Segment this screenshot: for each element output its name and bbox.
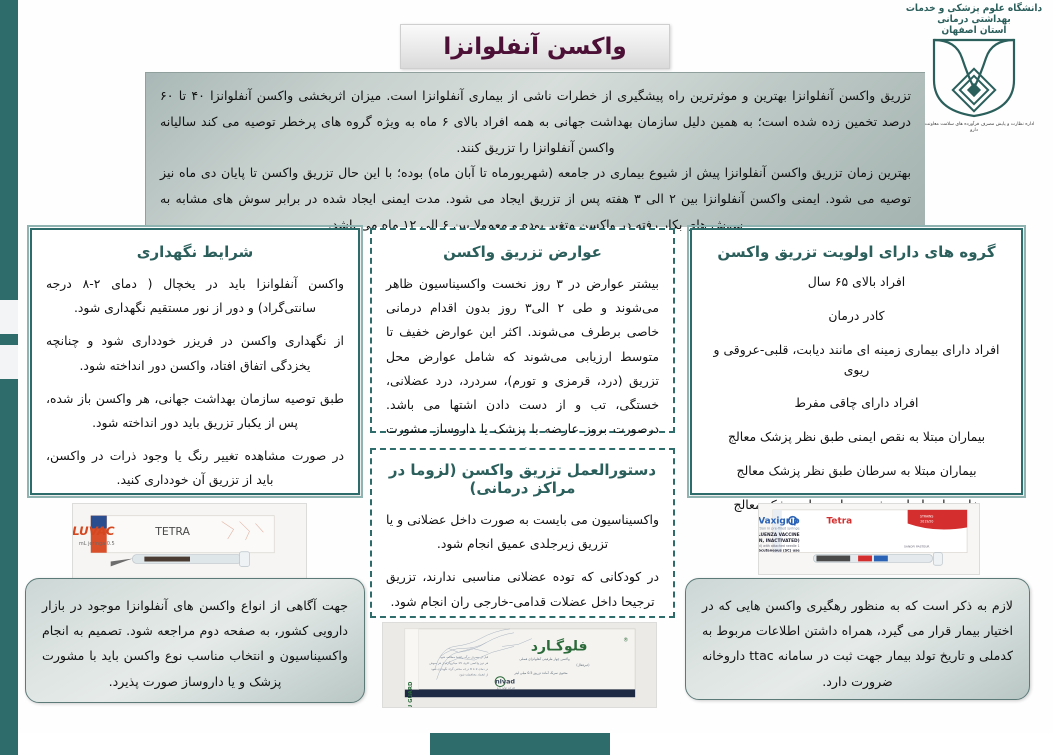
storage-conditions-card: شرایط نگهداری واکسن آنفلوانزا باید در یخ…: [30, 228, 360, 495]
storage-paragraph: طبق توصیه سازمان بهداشت جهانی، هر واکسن …: [46, 387, 344, 435]
priority-list-item: افراد دارای بیماری زمینه ای مانند دیابت،…: [708, 340, 1005, 380]
side-effects-card-title: عوارض تزریق واکسن: [386, 243, 659, 261]
storage-paragraph: در صورت مشاهده تغییر رنگ یا وجود ذرات در…: [46, 444, 344, 492]
svg-text:SANOFI PASTEUR: SANOFI PASTEUR: [904, 545, 929, 549]
instructions-card-title: دستورالعمل تزریق واکسن (لزوما در مراکز د…: [386, 461, 659, 497]
priority-list-item: بیماران مبتلا به سرطان طبق نظر پزشک معال…: [708, 461, 1005, 481]
second-page-note-text: جهت آگاهی از انواع واکسن های آنفلوانزا م…: [42, 593, 348, 694]
logo-caption: اداره نظارت و پایش مصرف فرآورده های سلام…: [905, 122, 1043, 135]
svg-text:Suspension for injection in pr: Suspension for injection in pre-filled s…: [759, 526, 800, 530]
page-title: واکسن آنفلوانزا: [400, 24, 670, 69]
left-band-notch: [0, 300, 18, 334]
storage-paragraph: از نگهداری واکسن در فریزر خودداری شود و …: [46, 329, 344, 377]
svg-text:شرکت تولید دارو: شرکت تولید دارو: [496, 686, 515, 689]
side-effects-card: عوارض تزریق واکسن بیشتر عوارض در ۳ روز ن…: [370, 228, 675, 433]
svg-text:INFLUVAC: INFLUVAC: [73, 524, 115, 538]
svg-text:از انجماد محافظت شود: از انجماد محافظت شود: [459, 673, 488, 677]
svg-text:QUADRIVALENT INFLUENZA VACCINE: QUADRIVALENT INFLUENZA VACCINE: [759, 532, 800, 538]
svg-text:STRAINS: STRAINS: [920, 515, 933, 519]
priority-card-title: گروه های دارای اولویت تزریق واکسن: [708, 243, 1005, 261]
priority-list-item: کادر درمان: [708, 306, 1005, 326]
logo-arc-text: دانشگاه علوم پزشکی و خدمات بهداشتی درمان…: [905, 5, 1043, 38]
instructions-paragraph: در کودکانی که توده عضلانی مناسبی ندارند،…: [386, 565, 659, 613]
flugard-product-photo: FLU GUARD فلوگـارد ® واکسن چهار ظرفیتی آ…: [382, 622, 657, 708]
priority-list-item: افراد دارای چاقی مفرط: [708, 393, 1005, 413]
ttac-registration-note-text: لازم به ذکر است که به منظور رهگیری واکسن…: [702, 593, 1013, 694]
svg-text:فلوگـارد: فلوگـارد: [531, 637, 588, 654]
svg-text:(غیرفعال): (غیرفعال): [576, 663, 589, 667]
injection-instructions-card: دستورالعمل تزریق واکسن (لزوما در مراکز د…: [370, 448, 675, 618]
svg-text:محتوی سرنگ آماده تزریق 0.5 میل: محتوی سرنگ آماده تزریق 0.5 میلی لیتر: [513, 671, 568, 675]
svg-text:واکسن چهار ظرفیتی آنفلوانزای ف: واکسن چهار ظرفیتی آنفلوانزای فصلی: [519, 657, 570, 661]
priority-groups-card: گروه های دارای اولویت تزریق واکسن افراد …: [690, 228, 1023, 495]
svg-text:2019/20: 2019/20: [920, 520, 933, 524]
svg-text:TETRA: TETRA: [154, 525, 190, 538]
ttac-registration-note-box: لازم به ذکر است که به منظور رهگیری واکسن…: [685, 578, 1030, 700]
organization-logo: دانشگاه علوم پزشکی و خدمات بهداشتی درمان…: [905, 6, 1043, 146]
storage-paragraph: واکسن آنفلوانزا باید در یخچال ( دمای ۲-۸…: [46, 272, 344, 320]
svg-text:Vaxigrip: Vaxigrip: [759, 517, 800, 527]
svg-text:Intramuscular (IM) or subcutan: Intramuscular (IM) or subcutaneous (SC) …: [759, 549, 800, 553]
svg-text:در دمای 2 تا 8 درجه سانتی گراد: در دمای 2 تا 8 درجه سانتی گراد نگهداری ش…: [431, 667, 489, 671]
svg-text:قبل از مصرف برگه راهنما مطالعه: قبل از مصرف برگه راهنما مطالعه شود: [440, 655, 489, 659]
influvac-product-photo: INFLUVAC TETRA 0.5 mL jeringa: [72, 503, 307, 581]
svg-text:Tetra: Tetra: [827, 517, 853, 527]
svg-text:®: ®: [623, 637, 628, 644]
intro-paragraph-2: بهترین زمان تزریق واکسن آنفلوانزا پیش از…: [160, 160, 911, 237]
svg-text:1 pre-filled syringe (0.5 ml): 1 pre-filled syringe (0.5 ml) with attac…: [759, 544, 800, 548]
side-effects-paragraph: بیشتر عوارض در ۳ روز نخست واکسیناسیون ظا…: [386, 272, 659, 466]
svg-text:nivad: nivad: [495, 678, 515, 686]
university-shield-icon: [905, 36, 1043, 120]
poster-root: واکسن آنفلوانزا دانشگاه علوم پزشکی و خدم…: [0, 0, 1053, 755]
intro-paragraph-1: تزریق واکسن آنفلوانزا بهترین و موثرترین …: [160, 83, 911, 160]
priority-list-item: بیماران مبتلا به نقص ایمنی طبق نظر پزشک …: [708, 427, 1005, 447]
vaxigrip-product-photo: Vaxigrip Tetra Suspension for injection …: [758, 503, 980, 575]
bottom-decorative-band: [430, 733, 610, 755]
svg-text:0.5 mL jeringa: 0.5 mL jeringa: [79, 541, 115, 547]
left-band-notch: [0, 345, 18, 379]
svg-text:FLU GUARD: FLU GUARD: [408, 681, 414, 707]
storage-card-title: شرایط نگهداری: [46, 243, 344, 261]
page-title-text: واکسن آنفلوانزا: [443, 34, 626, 60]
second-page-note-box: جهت آگاهی از انواع واکسن های آنفلوانزا م…: [25, 578, 365, 703]
instructions-paragraph: واکسیناسیون می بایست به صورت داخل عضلانی…: [386, 508, 659, 556]
priority-list-item: افراد بالای ۶۵ سال: [708, 272, 1005, 292]
intro-panel: تزریق واکسن آنفلوانزا بهترین و موثرترین …: [145, 72, 925, 227]
logo-arc-line-2: استان اصفهان: [905, 26, 1043, 37]
logo-arc-line-1: دانشگاه علوم پزشکی و خدمات بهداشتی درمان…: [905, 5, 1043, 27]
